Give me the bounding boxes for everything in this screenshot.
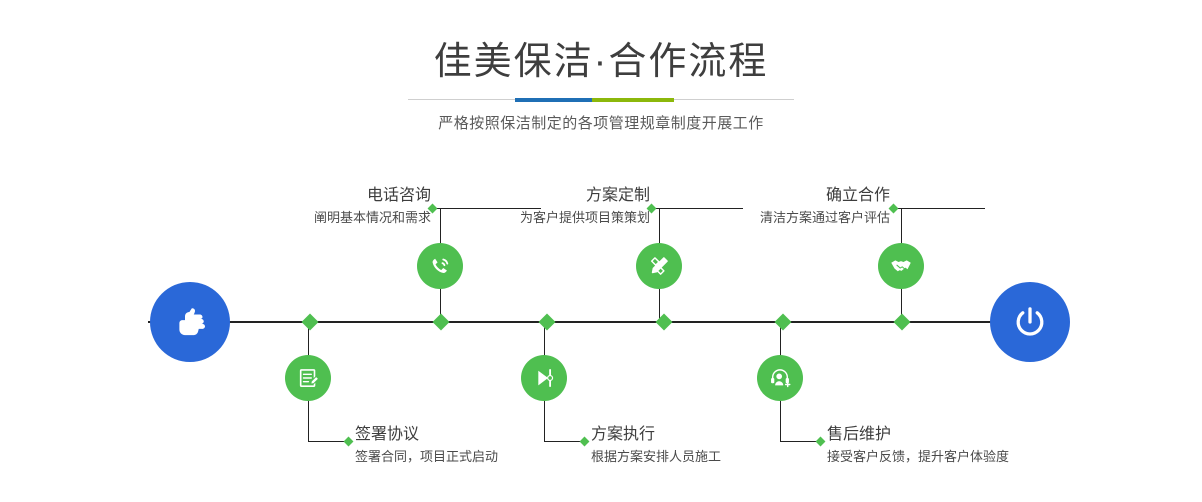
axis-marker-1 <box>302 314 319 331</box>
step-node-1[interactable] <box>417 243 463 289</box>
page-title: 佳美保洁·合作流程 <box>0 40 1202 84</box>
step-node-2[interactable] <box>285 355 331 401</box>
axis-marker-2 <box>433 314 450 331</box>
label-marker-2 <box>344 437 354 447</box>
step-label-2: 签署协议 签署合同，项目正式启动 <box>355 425 615 466</box>
divider-green-segment <box>592 98 674 102</box>
step-desc-1: 阐明基本情况和需求 <box>221 209 431 227</box>
step-title-5: 确立合作 <box>680 186 890 206</box>
diagram-header: 佳美保洁·合作流程 严格按照保洁制定的各项管理规章制度开展工作 <box>0 0 1202 133</box>
play-execute-icon <box>531 365 557 391</box>
step-desc-5: 清洁方案通过客户评估 <box>680 209 890 227</box>
step-title-1: 电话咨询 <box>221 186 431 206</box>
timeline-end-node <box>990 282 1070 362</box>
connector-horizontal-5 <box>895 208 985 209</box>
power-icon <box>1009 301 1051 343</box>
step-label-4: 方案执行 根据方案安排人员施工 <box>591 425 851 466</box>
title-divider <box>408 98 794 102</box>
label-marker-5 <box>889 204 899 214</box>
step-title-4: 方案执行 <box>591 425 851 445</box>
document-sign-icon <box>295 365 321 391</box>
connector-horizontal-2 <box>308 441 348 442</box>
step-label-1: 电话咨询 阐明基本情况和需求 <box>221 186 431 227</box>
step-title-2: 签署协议 <box>355 425 615 445</box>
step-label-5: 确立合作 清洁方案通过客户评估 <box>680 186 890 227</box>
step-desc-3: 为客户提供项目策策划 <box>440 209 650 227</box>
customer-service-icon <box>767 365 793 391</box>
step-desc-4: 根据方案安排人员施工 <box>591 448 851 466</box>
handshake-icon <box>888 253 914 279</box>
step-title-3: 方案定制 <box>440 186 650 206</box>
phone-call-icon <box>427 253 453 279</box>
step-node-3[interactable] <box>636 243 682 289</box>
pencil-ruler-icon <box>646 253 672 279</box>
step-label-3: 方案定制 为客户提供项目策策划 <box>440 186 650 227</box>
step-label-6: 售后维护 接受客户反馈，提升客户体验度 <box>827 425 1107 466</box>
step-node-6[interactable] <box>757 355 803 401</box>
timeline-start-node <box>150 282 230 362</box>
page-subtitle: 严格按照保洁制定的各项管理规章制度开展工作 <box>0 112 1202 133</box>
flow-diagram: 佳美保洁·合作流程 严格按照保洁制定的各项管理规章制度开展工作 <box>0 0 1202 502</box>
hand-point-right-icon <box>170 302 210 342</box>
axis-marker-6 <box>894 314 911 331</box>
step-node-5[interactable] <box>878 243 924 289</box>
divider-blue-segment <box>515 98 592 102</box>
axis-marker-3 <box>539 314 556 331</box>
axis-marker-5 <box>775 314 792 331</box>
step-node-4[interactable] <box>521 355 567 401</box>
step-desc-2: 签署合同，项目正式启动 <box>355 448 615 466</box>
step-desc-6: 接受客户反馈，提升客户体验度 <box>827 448 1107 466</box>
step-title-6: 售后维护 <box>827 425 1107 445</box>
timeline-axis <box>148 321 1054 323</box>
